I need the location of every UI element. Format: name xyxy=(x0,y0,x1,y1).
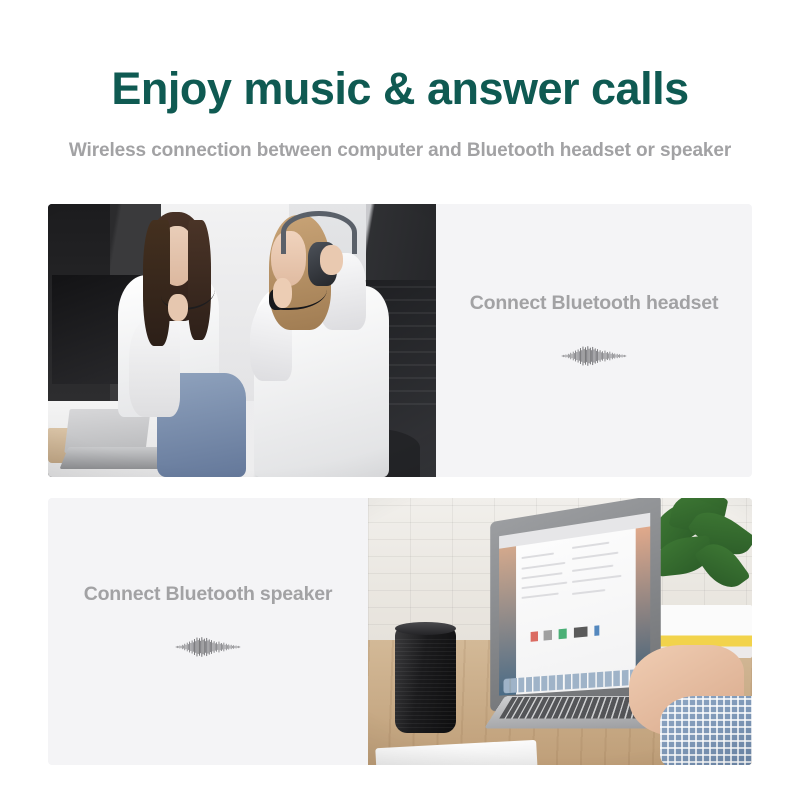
promo-page: Enjoy music & answer calls Wireless conn… xyxy=(0,0,800,800)
headset-caption-panel: Connect Bluetooth headset xyxy=(436,204,752,477)
page-subtitle: Wireless connection between computer and… xyxy=(0,114,800,162)
photo-vignette xyxy=(368,498,752,765)
headset-caption-label: Connect Bluetooth headset xyxy=(470,292,719,315)
speaker-caption-label: Connect Bluetooth speaker xyxy=(84,583,333,606)
headset-photo xyxy=(48,204,436,477)
desk-photo-scene xyxy=(368,498,752,765)
photo-vignette xyxy=(48,204,436,477)
feature-row-headset: Connect Bluetooth headset xyxy=(48,204,752,477)
speaker-caption-panel: Connect Bluetooth speaker xyxy=(48,498,368,765)
speaker-photo xyxy=(368,498,752,765)
feature-row-speaker: Connect Bluetooth speaker xyxy=(48,498,752,765)
office-photo-scene xyxy=(48,204,436,477)
header: Enjoy music & answer calls Wireless conn… xyxy=(0,0,800,162)
audio-waveform-icon xyxy=(561,345,627,367)
audio-waveform-icon xyxy=(175,636,241,658)
page-title: Enjoy music & answer calls xyxy=(0,0,800,114)
